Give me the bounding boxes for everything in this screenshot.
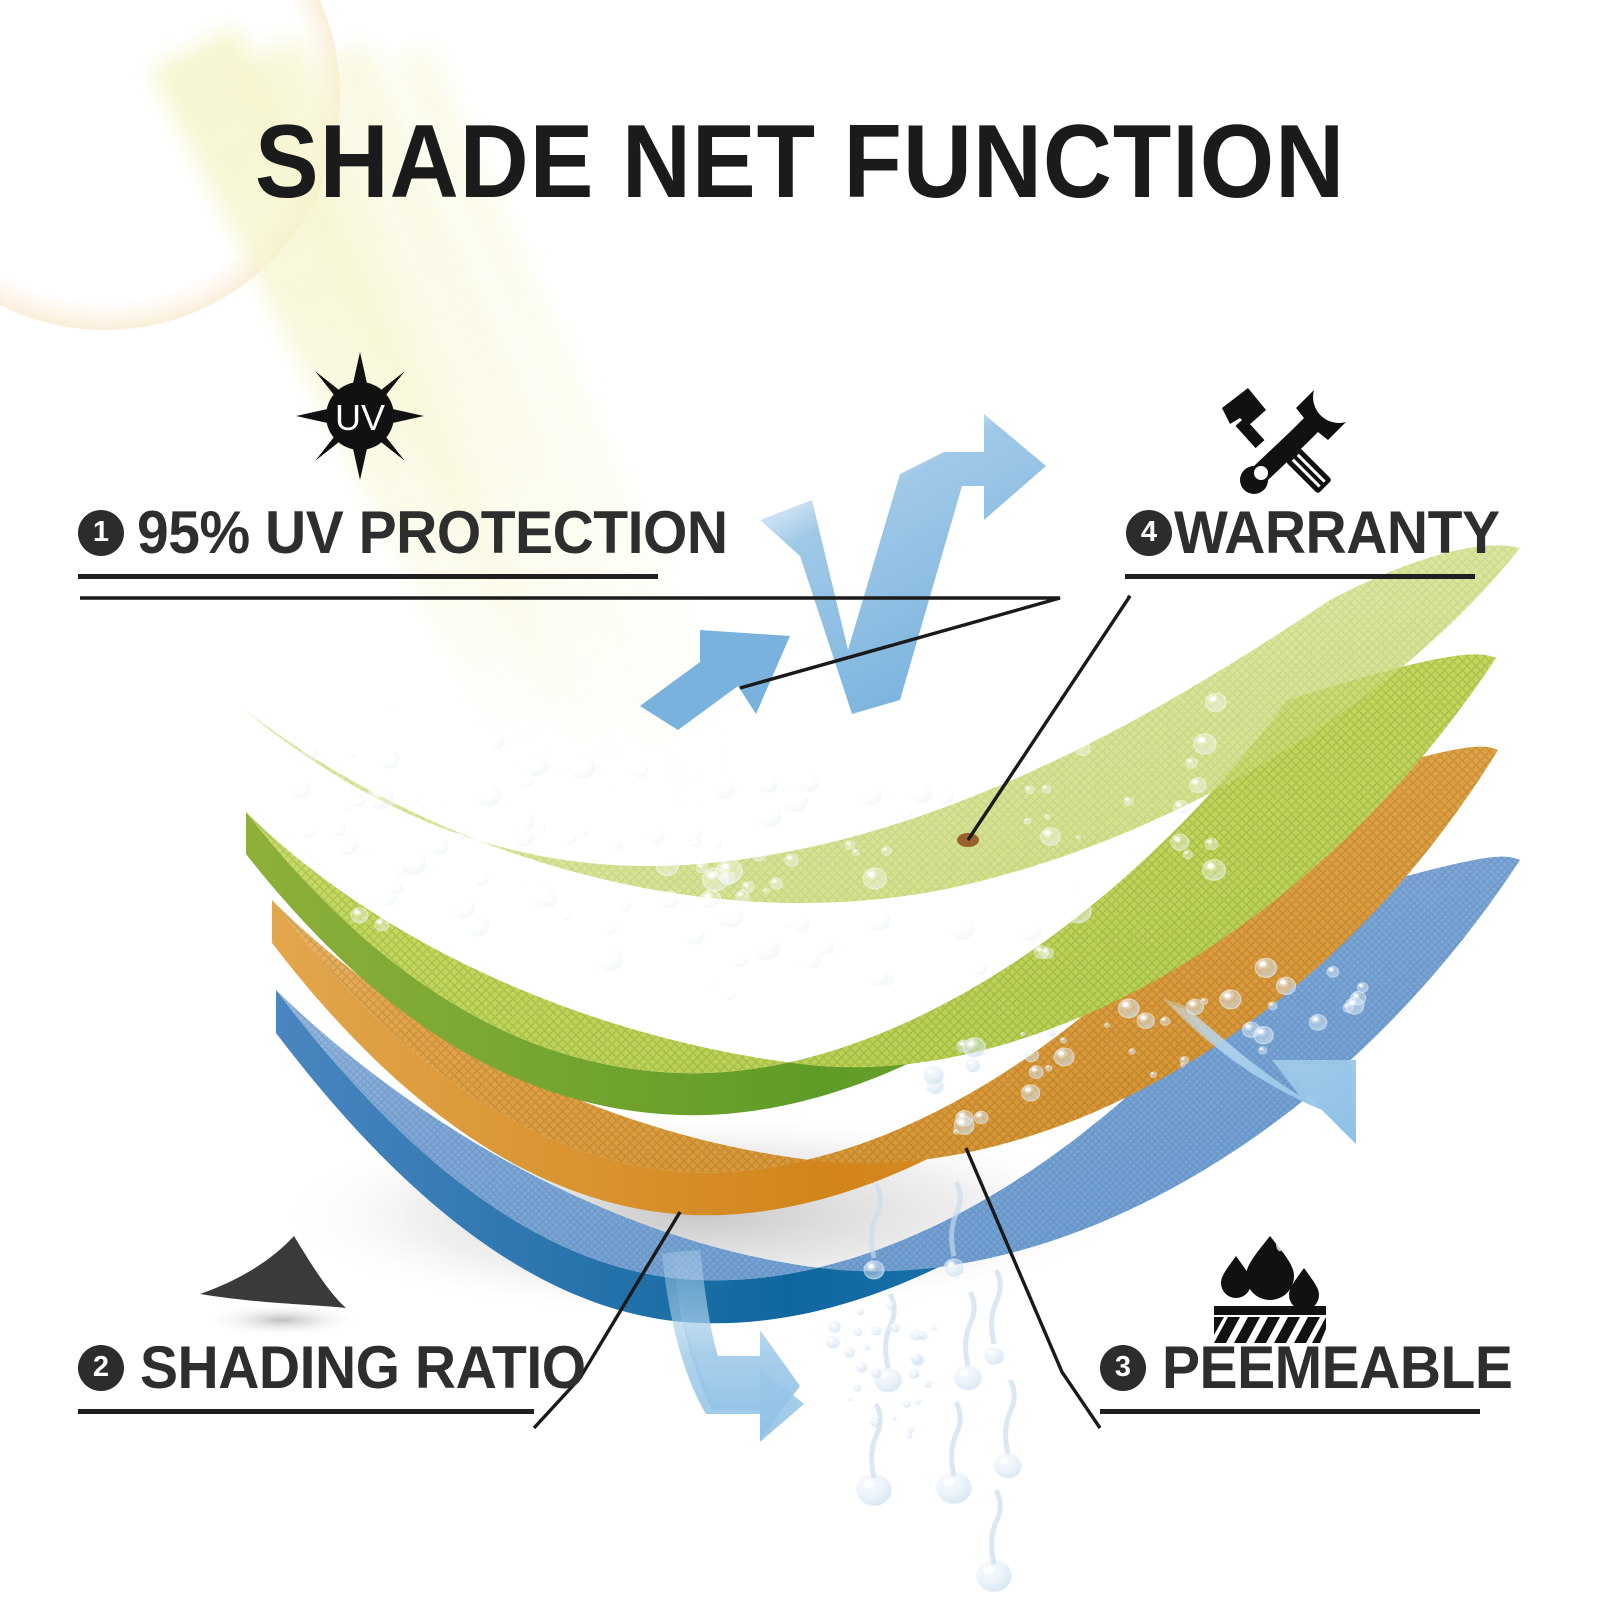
leader-line-permeable [966,1148,1100,1428]
uv-icon-text: UV [335,397,385,438]
feature-label-text-2: SHADING RATIO [140,1333,586,1402]
hammer-wrench-screwdriver-icon [1218,386,1350,506]
feature-label-uv-protection: 1 95% UV PROTECTION [78,498,759,579]
feature-label-text-4: WARRANTY [1174,498,1500,567]
feature-label-text-3: PEEMEABLE [1162,1333,1512,1402]
water-drops-through-mesh-icon [1190,1232,1350,1344]
badge-number-3: 3 [1100,1345,1146,1391]
badge-number-2: 2 [78,1345,124,1391]
shade-sail-triangle-icon [170,1232,390,1344]
leader-line-warranty [968,596,1130,840]
leader-line-uv [80,598,1060,688]
feature-label-warranty: 4 WARRANTY [1126,498,1517,579]
feature-label-permeable: 3 PEEMEABLE [1100,1333,1531,1414]
feature-label-shading-ratio: 2 SHADING RATIO [78,1333,609,1414]
uv-sun-icon: UV [296,352,424,480]
label-rule-1 [78,574,658,579]
infographic-canvas: SHADE NET FUNCTION [0,0,1600,1600]
label-rule-4 [1125,574,1475,579]
label-rule-3 [1100,1409,1480,1414]
label-rule-2 [78,1409,534,1414]
feature-label-text-1: 95% UV PROTECTION [137,498,728,567]
badge-number-1: 1 [78,510,124,556]
badge-number-4: 4 [1126,510,1172,556]
